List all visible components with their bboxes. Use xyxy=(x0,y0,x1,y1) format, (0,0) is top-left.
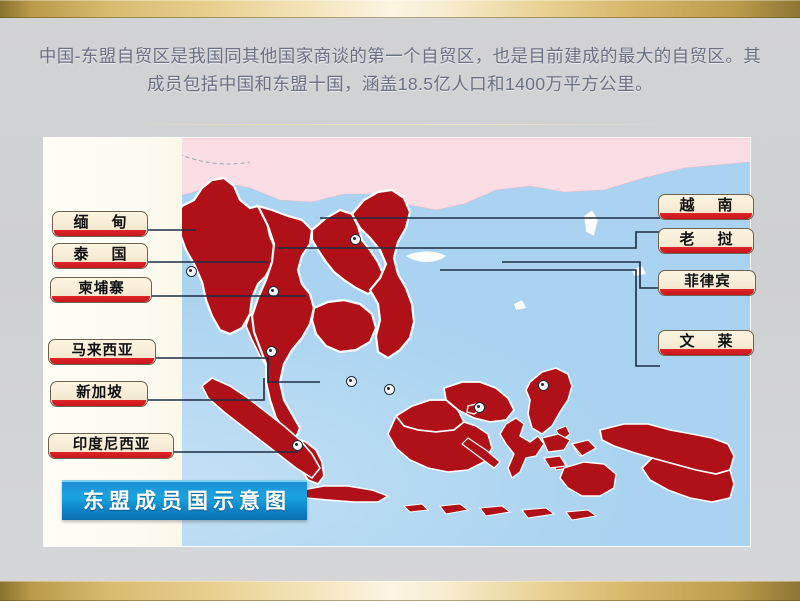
slide-canvas: 中国-东盟自贸区是我国同其他国家商谈的第一个自贸区，也是目前建成的最大的自贸区。… xyxy=(0,0,800,601)
capital-marker-vietnam xyxy=(350,234,361,245)
islands-lesser-sunda xyxy=(404,504,596,520)
country-label-thailand[interactable]: 泰 国 xyxy=(52,243,148,269)
country-label-laos[interactable]: 老 挝 xyxy=(658,228,754,254)
country-sumatra xyxy=(202,378,320,478)
country-label-malaysia[interactable]: 马来西亚 xyxy=(48,339,156,365)
country-label-indonesia[interactable]: 印度尼西亚 xyxy=(48,433,174,459)
capital-marker-indonesia xyxy=(384,384,395,395)
capital-marker-myanmar xyxy=(186,266,197,277)
country-label-myanmar[interactable]: 缅 甸 xyxy=(52,211,148,237)
gold-accent-bar-bottom xyxy=(0,581,800,601)
country-label-cambodia[interactable]: 柬埔寨 xyxy=(50,277,152,303)
island-taiwan xyxy=(584,210,598,236)
country-philippines-mindanao xyxy=(560,462,616,496)
country-label-vietnam[interactable]: 越 南 xyxy=(658,194,754,220)
capital-marker-thailand xyxy=(266,346,277,357)
map-caption-banner: 东盟成员国示意图 xyxy=(62,480,307,520)
country-java xyxy=(302,486,388,502)
capital-marker-cambodia xyxy=(346,376,357,387)
country-label-brunei[interactable]: 文 莱 xyxy=(658,330,754,356)
country-label-singapore[interactable]: 新加坡 xyxy=(50,381,148,407)
islets-white xyxy=(406,252,646,311)
slide-header-text: 中国-东盟自贸区是我国同其他国家商谈的第一个自贸区，也是目前建成的最大的自贸区。… xyxy=(36,42,764,98)
country-cambodia xyxy=(312,300,376,352)
header-divider-rule xyxy=(118,124,688,125)
capital-marker-philippines xyxy=(538,380,549,391)
gold-accent-bar-top xyxy=(0,0,800,18)
country-philippines-luzon xyxy=(526,368,572,434)
country-label-philippines[interactable]: 菲律宾 xyxy=(658,270,756,296)
capital-marker-singapore xyxy=(292,440,303,451)
capital-marker-brunei xyxy=(474,402,485,413)
capital-marker-laos xyxy=(268,286,279,297)
